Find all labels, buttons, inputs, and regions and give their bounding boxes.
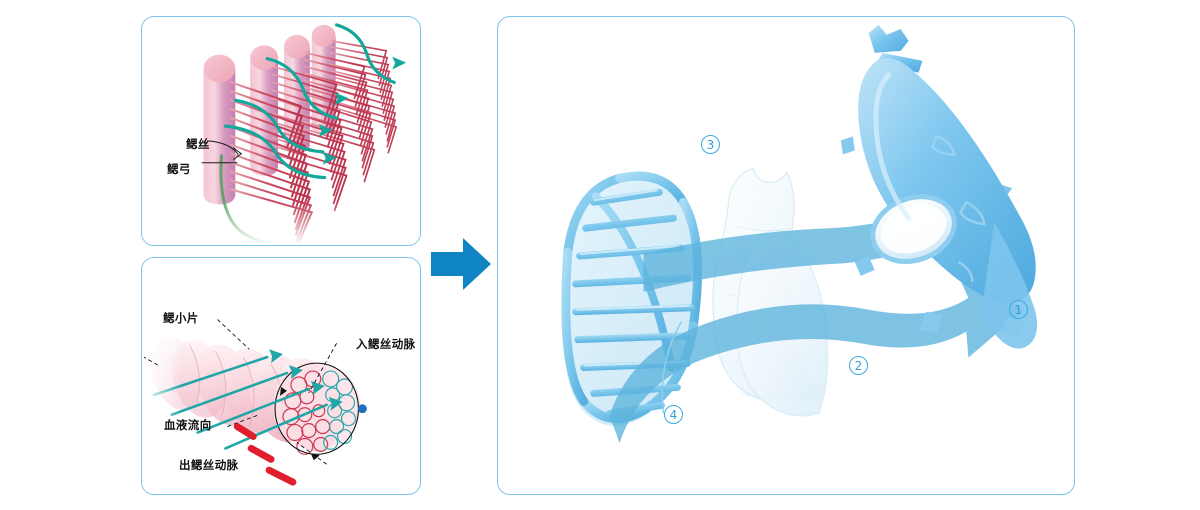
index-marker-3-digit: 3 [707,139,715,151]
index-marker-3: 3 [701,135,720,154]
label-efferent-filament-artery: 出鳃丝动脉 [179,460,239,472]
product-illustration [498,17,1074,494]
gill-arch-illustration [142,17,420,245]
panel-product-assembly: 3 1 2 4 [497,16,1075,495]
process-arrow-icon [430,235,492,293]
label-gill-arch: 鳃弓 [167,164,191,176]
index-marker-2: 2 [849,356,868,375]
label-gill-filament: 鳃丝 [186,139,210,151]
index-marker-1: 1 [1009,300,1028,319]
label-afferent-filament-artery: 入鳃丝动脉 [356,339,416,351]
panel-gill-lamella: 鳃小片 入鳃丝动脉 血液流向 出鳃丝动脉 [141,257,421,495]
filter-fabric-component [713,168,828,416]
index-marker-4: 4 [664,405,683,424]
panel-gill-arch: 鳃丝 鳃弓 [141,16,421,246]
label-gill-lamella: 鳃小片 [163,313,199,325]
afferent-artery-node [358,404,367,413]
index-marker-1-digit: 1 [1015,304,1023,316]
mask-shell-component [841,25,1037,349]
index-marker-2-digit: 2 [855,360,863,372]
capillary-network [273,363,360,460]
label-blood-flow-direction: 血液流向 [164,420,212,432]
diagram-stage: 鳃丝 鳃弓 [0,0,1200,510]
index-marker-4-digit: 4 [670,409,678,421]
